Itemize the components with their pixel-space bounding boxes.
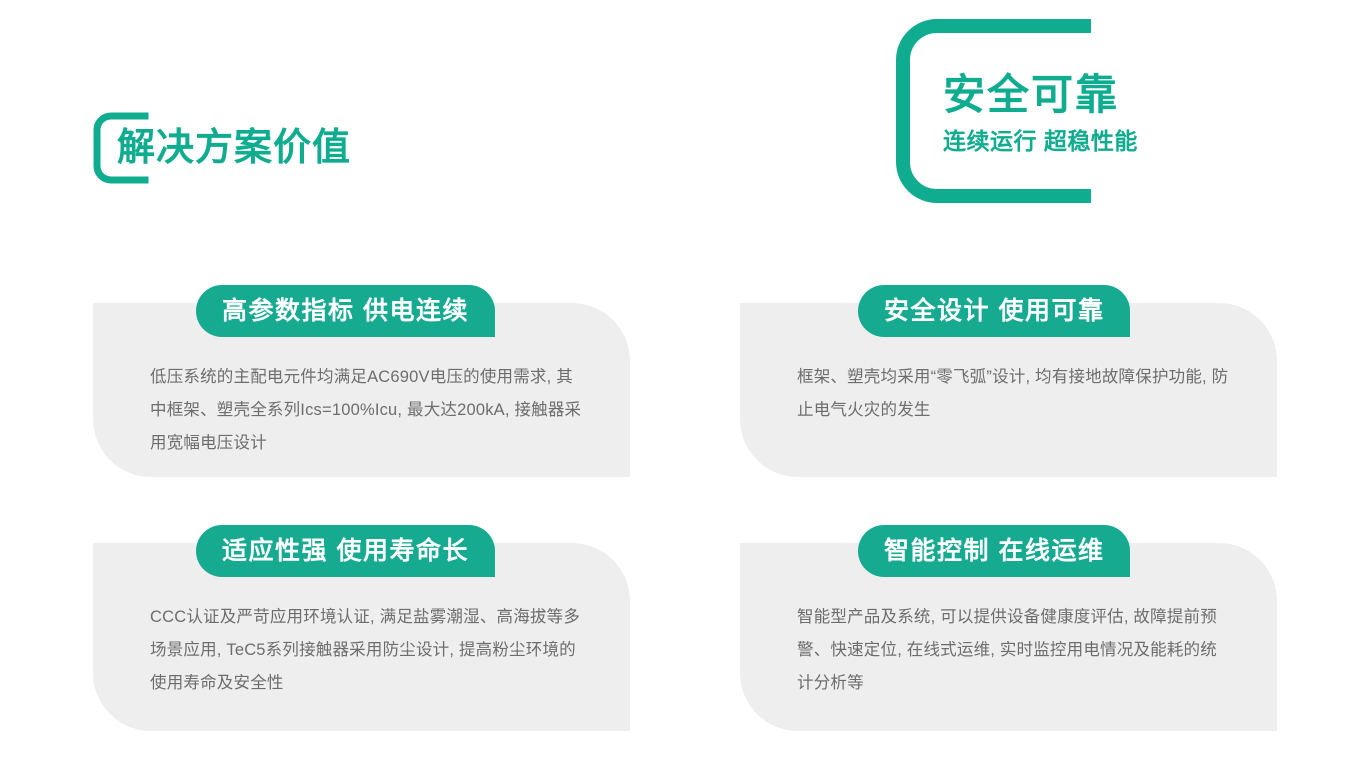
card-header-pill: 高参数指标 供电连续 (196, 285, 495, 337)
card-body-text: 智能型产品及系统, 可以提供设备健康度评估, 故障提前预警、快速定位, 在线式运… (797, 601, 1231, 700)
card-body-text: 框架、塑壳均采用“零飞弧”设计, 均有接地故障保护功能, 防止电气火灾的发生 (797, 361, 1231, 427)
value-card: 智能控制 在线运维 智能型产品及系统, 可以提供设备健康度评估, 故障提前预警、… (740, 543, 1277, 731)
value-card: 高参数指标 供电连续 低压系统的主配电元件均满足AC690V电压的使用需求, 其… (93, 303, 630, 477)
card-title: 智能控制 在线运维 (884, 525, 1104, 577)
card-header-pill: 安全设计 使用可靠 (858, 285, 1130, 337)
badge-title: 安全可靠 (943, 70, 1183, 120)
card-body-text: CCC认证及严苛应用环境认证, 满足盐雾潮湿、高海拔等多场景应用, TeC5系列… (150, 601, 584, 700)
value-card: 安全设计 使用可靠 框架、塑壳均采用“零飞弧”设计, 均有接地故障保护功能, 防… (740, 303, 1277, 477)
card-body-text: 低压系统的主配电元件均满足AC690V电压的使用需求, 其中框架、塑壳全系列Ic… (150, 361, 584, 460)
section-heading: 解决方案价值 (93, 112, 513, 188)
section-heading-text: 解决方案价值 (117, 118, 351, 178)
card-title: 适应性强 使用寿命长 (222, 525, 469, 577)
badge-subtitle: 连续运行 超稳性能 (943, 126, 1183, 156)
value-card: 适应性强 使用寿命长 CCC认证及严苛应用环境认证, 满足盐雾潮湿、高海拔等多场… (93, 543, 630, 731)
card-title: 安全设计 使用可靠 (884, 285, 1104, 337)
safety-badge: 安全可靠 连续运行 超稳性能 (895, 18, 1127, 204)
card-title: 高参数指标 供电连续 (222, 285, 469, 337)
card-header-pill: 智能控制 在线运维 (858, 525, 1130, 577)
card-header-pill: 适应性强 使用寿命长 (196, 525, 495, 577)
page-root: 解决方案价值 安全可靠 连续运行 超稳性能 高参数指标 供电连续 低压系统的主配… (0, 0, 1350, 782)
